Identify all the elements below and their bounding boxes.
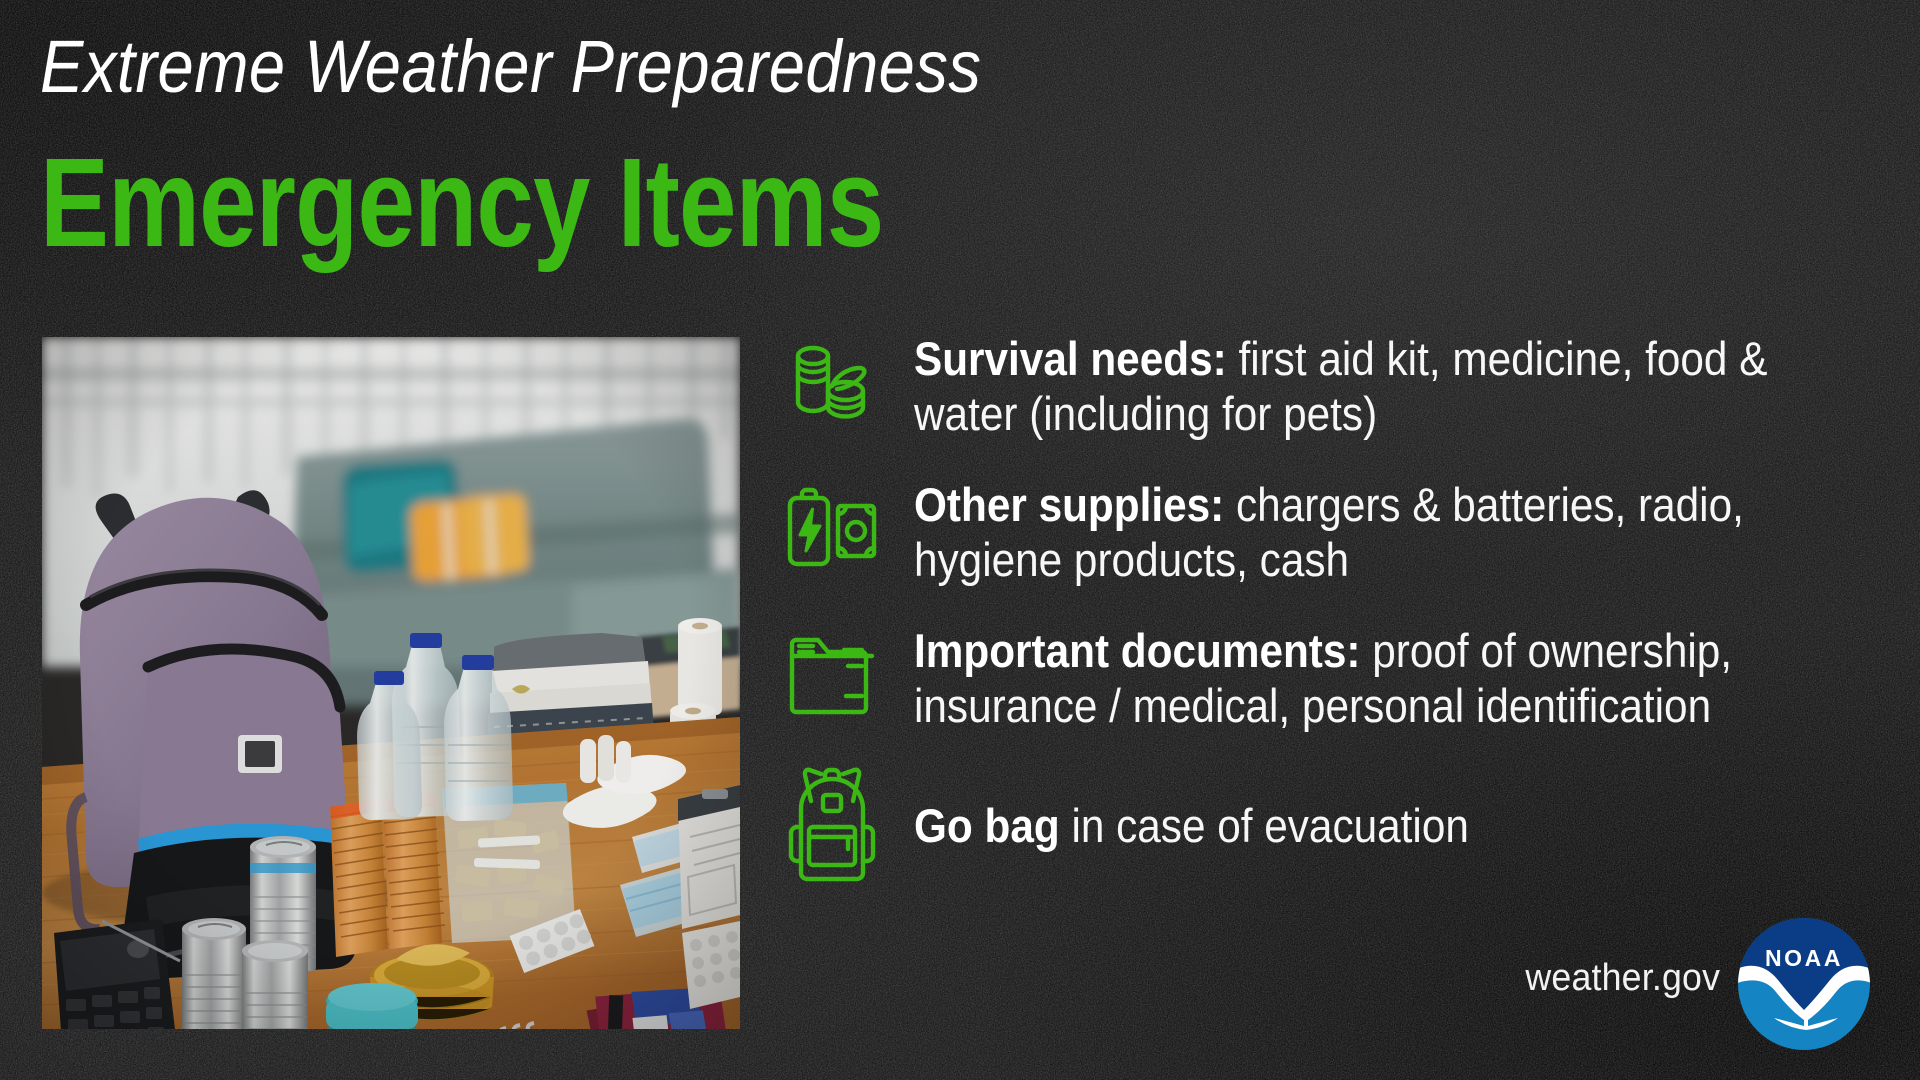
list-item-lead: Survival needs: bbox=[914, 332, 1227, 385]
emergency-supplies-illustration bbox=[42, 337, 740, 1029]
list-item: Survival needs: first aid kit, medicine,… bbox=[786, 330, 1896, 442]
battery-cash-icon bbox=[786, 482, 878, 574]
footer-url[interactable]: weather.gov bbox=[1525, 957, 1720, 1000]
list-item-text: Important documents: proof of ownership,… bbox=[914, 622, 1798, 734]
list-item-body: in case of evacuation bbox=[1060, 799, 1469, 852]
list-item-lead: Other supplies: bbox=[914, 478, 1224, 531]
page-title: Emergency Items bbox=[40, 140, 883, 266]
infographic-canvas: Extreme Weather Preparedness Emergency I… bbox=[0, 0, 1920, 1080]
list-item: Other supplies: chargers & batteries, ra… bbox=[786, 476, 1896, 588]
emergency-items-list: Survival needs: first aid kit, medicine,… bbox=[786, 330, 1896, 886]
noaa-wordmark-text: NOAA bbox=[1765, 945, 1843, 971]
list-item: Important documents: proof of ownership,… bbox=[786, 622, 1896, 734]
list-item-lead: Go bag bbox=[914, 799, 1060, 852]
noaa-logo[interactable]: NOAA bbox=[1738, 918, 1870, 1050]
emergency-supplies-photo bbox=[42, 337, 740, 1029]
list-item-text: Survival needs: first aid kit, medicine,… bbox=[914, 330, 1798, 442]
document-folder-icon bbox=[786, 628, 878, 720]
list-item: Go bag in case of evacuation bbox=[786, 768, 1896, 886]
list-item-text: Go bag in case of evacuation bbox=[914, 799, 1798, 854]
backpack-icon bbox=[786, 762, 878, 886]
list-item-lead: Important documents: bbox=[914, 624, 1361, 677]
list-item-text: Other supplies: chargers & batteries, ra… bbox=[914, 476, 1798, 588]
noaa-wordmark: NOAA bbox=[1765, 945, 1843, 971]
kicker-title: Extreme Weather Preparedness bbox=[40, 30, 981, 104]
canned-food-icon bbox=[786, 334, 878, 426]
